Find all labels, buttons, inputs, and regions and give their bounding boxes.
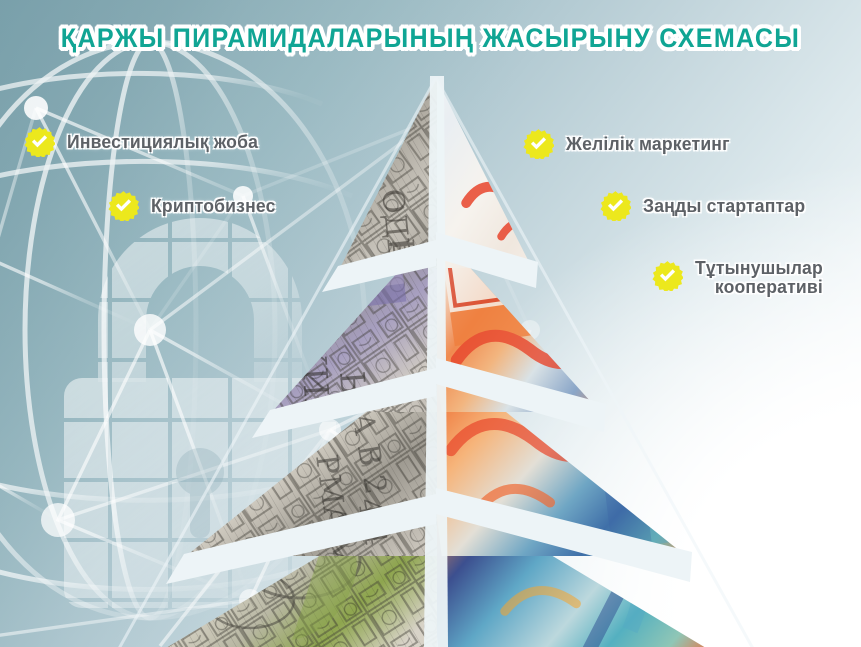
label-text-line2: кооперативі [715,276,823,297]
poster-canvas: РМА МЫН А В 2 4 4 2 9 [0,0,861,647]
label-crypto-business[interactable]: Криптобизнес [108,190,282,221]
label-text: Инвестициялық жоба [67,132,258,152]
label-text-line1: Тұтынушылар [695,257,823,278]
label-network-marketing[interactable]: Желілік маркетинг [523,128,738,159]
check-badge-icon [600,190,631,221]
check-badge-icon [108,190,139,221]
label-investment-project[interactable]: Инвестициялық жоба [24,126,268,157]
check-badge-icon [652,260,683,291]
label-text: Заңды стартаптар [643,196,805,216]
label-consumer-cooperative[interactable]: Тұтынушылар кооперативі [652,258,830,297]
pyramid-graphic: РМА МЫН А В 2 4 4 2 9 [0,0,861,647]
label-text-block: Тұтынушылар кооперативі [695,258,823,297]
label-text: Желілік маркетинг [566,134,730,154]
label-text: Криптобизнес [151,196,276,216]
label-legal-startups[interactable]: Заңды стартаптар [600,190,814,221]
check-badge-icon [523,128,554,159]
svg-text:2: 2 [364,127,401,150]
check-badge-icon [24,126,55,157]
